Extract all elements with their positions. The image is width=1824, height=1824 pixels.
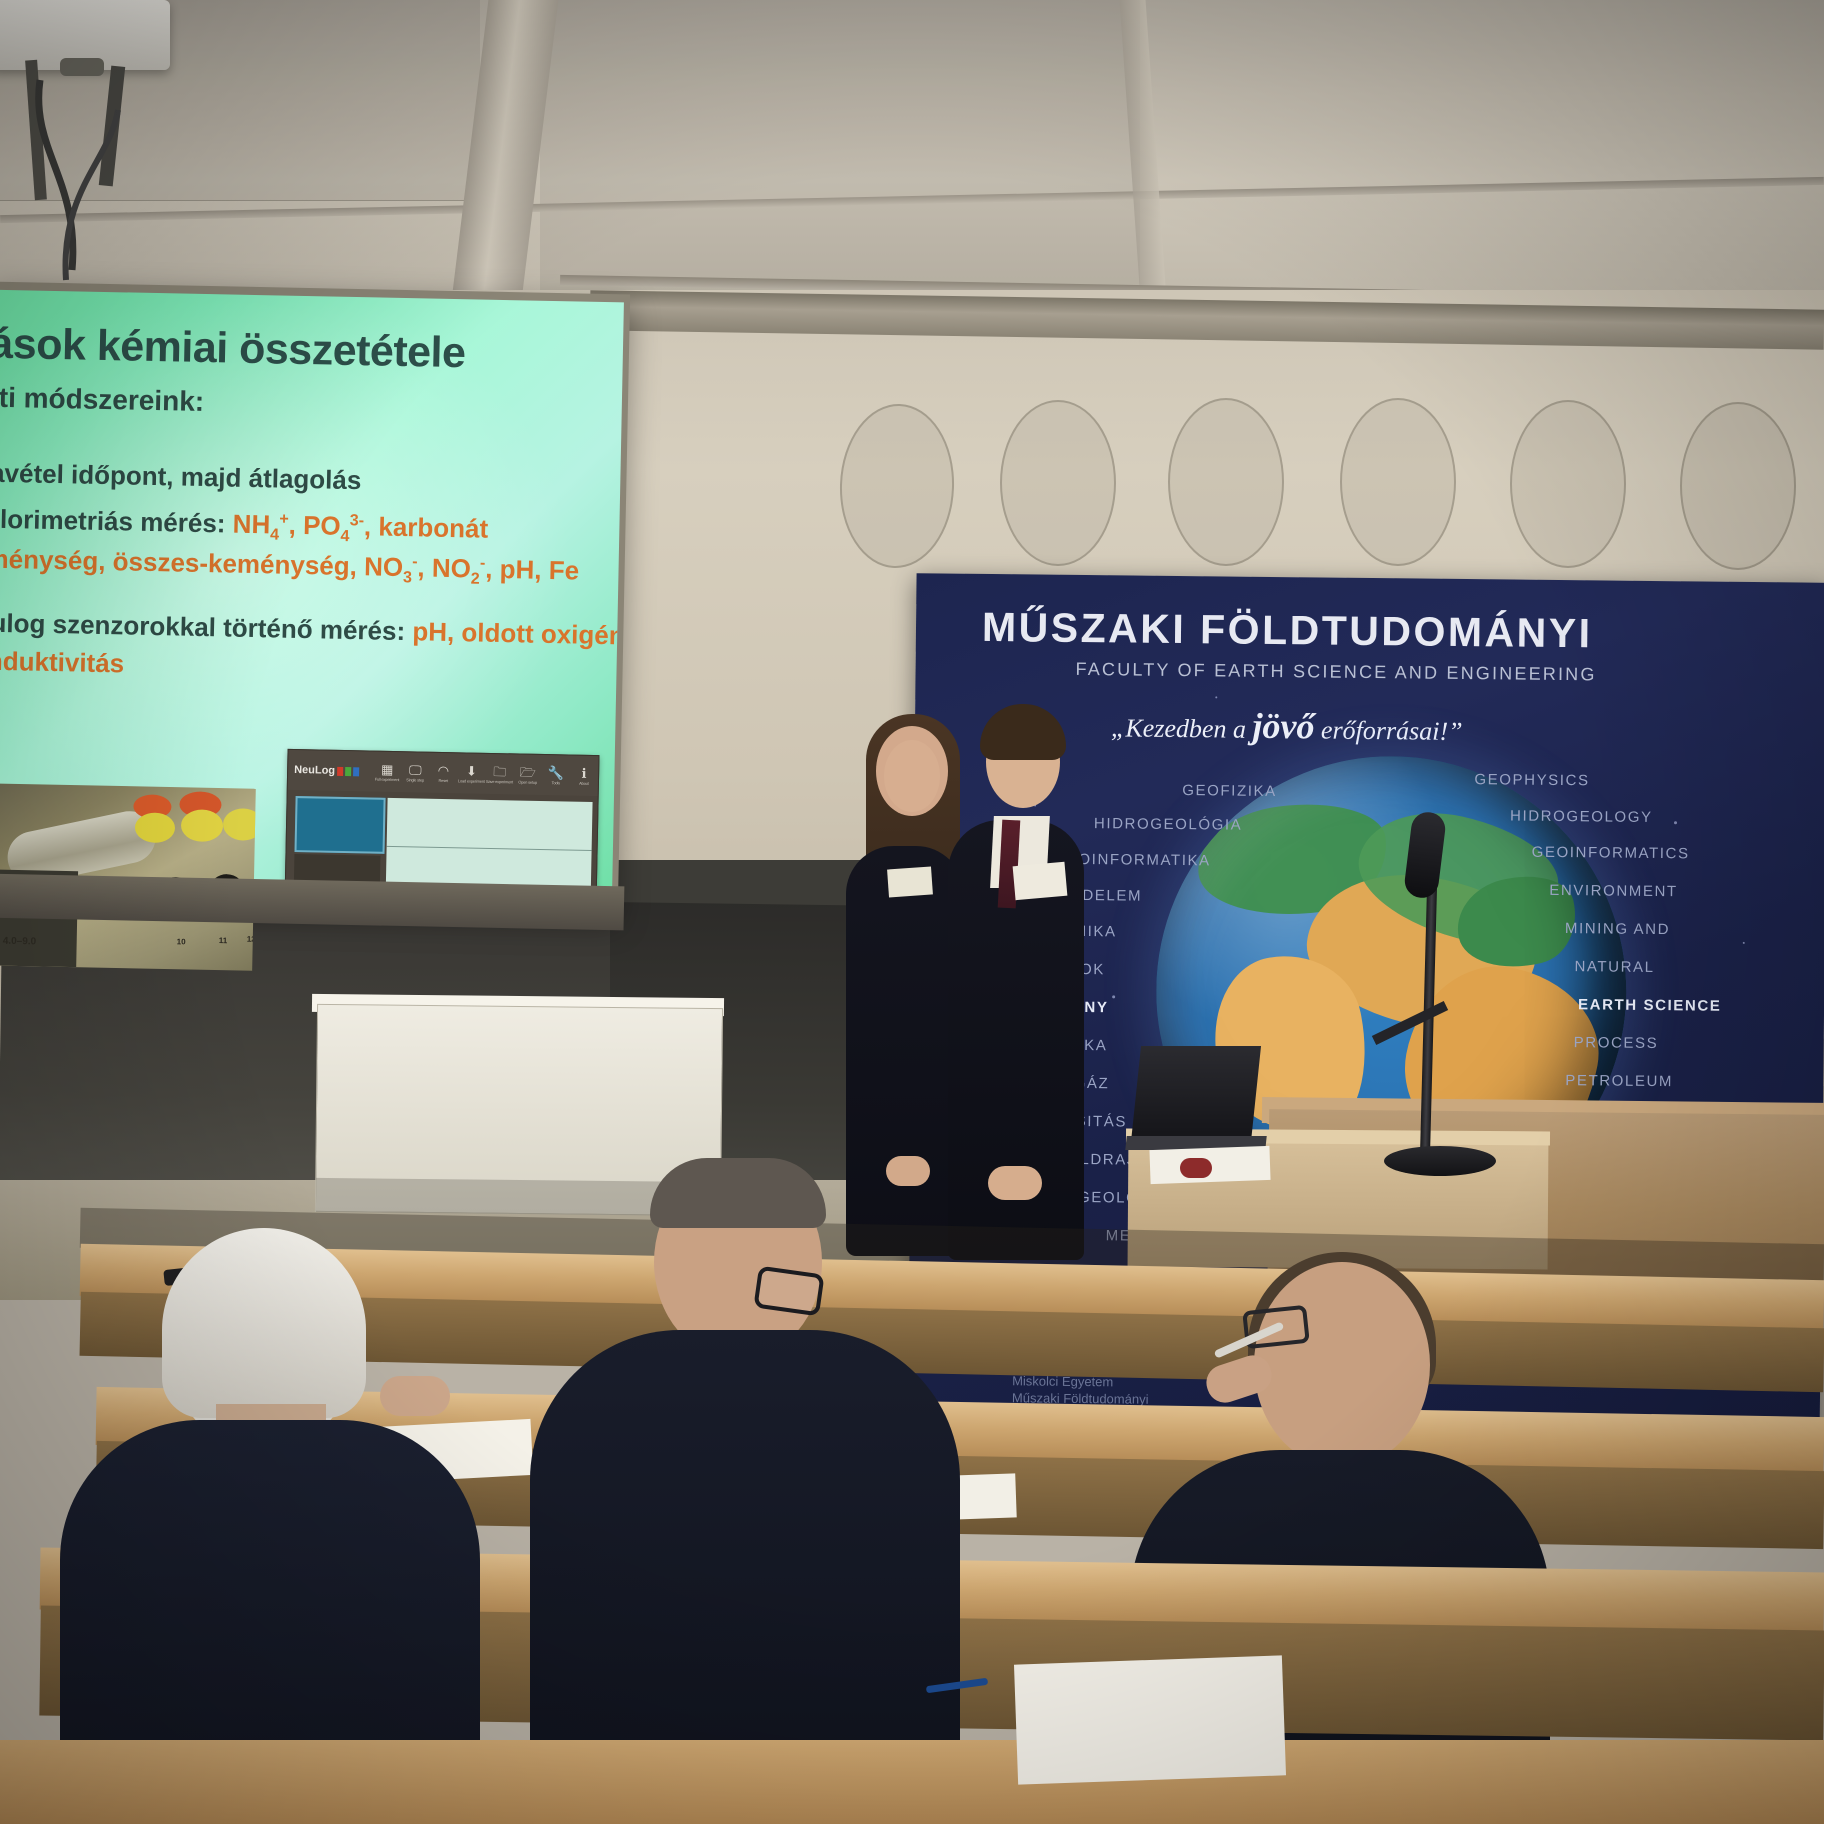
banner-word-en: ENVIRONMENT: [1549, 882, 1678, 900]
monitor-icon[interactable]: 🖵Single step: [401, 763, 430, 783]
presenter-female: [846, 846, 964, 1256]
formula-ammonium: NH4+: [232, 509, 289, 540]
banner-title: MŰSZAKI FÖLDTUDOMÁNYI: [982, 604, 1822, 660]
wall-decoration-circle: [1510, 400, 1626, 568]
banner-slogan: „Kezedben a jövő erőforrásai!”: [1111, 703, 1463, 749]
grid-icon[interactable]: ▦Full experiment: [373, 762, 402, 782]
slogan-pre: „Kezedben a: [1111, 713, 1253, 743]
ceiling: [0, 0, 1824, 300]
banner-word-hu: GEOFIZIKA: [1182, 782, 1277, 800]
audience-member-left-hand: [380, 1376, 450, 1416]
formula-phosphate: PO43-: [303, 510, 364, 541]
formula-sub: 3: [403, 568, 412, 586]
slide-bullet-3-line2: konduktivitás: [0, 645, 124, 679]
name-badge: [887, 866, 933, 897]
wall-decoration-circle: [1000, 400, 1116, 566]
color-dot: [223, 808, 256, 841]
toolbar-label: Reset: [429, 778, 457, 783]
formula-base: NO: [364, 551, 404, 582]
banner-word-en: PETROLEUM: [1565, 1072, 1673, 1090]
gauge-icon[interactable]: ◠Reset: [429, 763, 458, 783]
bullet-3-highlight: pH, oldott oxigén,: [412, 616, 624, 650]
neulog-logo: NeuLog: [294, 764, 359, 777]
projector-cable: [0, 40, 240, 300]
folder-icon[interactable]: 🗀Save experiment: [485, 764, 514, 784]
color-dot: [135, 812, 176, 843]
audience-member-right-head: [1254, 1262, 1430, 1468]
paper-sheet: [1014, 1655, 1286, 1784]
open-folder-icon[interactable]: 🗁Open setup: [513, 765, 542, 785]
toolbar-label: About: [570, 781, 598, 786]
wall-decoration-circle: [1340, 398, 1456, 566]
info-icon[interactable]: ℹAbout: [570, 766, 599, 786]
ph-range-label: pH 4.0–9.0: [0, 935, 36, 947]
banner-word-en: GEOPHYSICS: [1474, 771, 1589, 789]
microphone-base: [1384, 1146, 1496, 1176]
formula-sub: 4: [340, 527, 349, 545]
logo-square-red: [337, 766, 343, 775]
formula-nitrate: NO3-: [364, 551, 418, 582]
wireless-mouse[interactable]: [1180, 1158, 1212, 1178]
bench-row-4-top: [0, 1740, 1824, 1824]
scale-tick: 11: [219, 936, 228, 945]
formula-base: NH: [232, 509, 270, 540]
presenter-female-face: [884, 740, 940, 812]
slide-subtitle: álati módszereink:: [0, 381, 204, 418]
toolbar-label: Single step: [401, 778, 429, 783]
formula-separator: ,: [417, 552, 432, 582]
download-icon[interactable]: ⬇Load experiment: [457, 764, 486, 784]
toolbar-label: Full experiment: [373, 777, 401, 782]
toolbar-label: Load experiment: [457, 779, 485, 784]
formula-base: PO: [303, 510, 341, 541]
banner-word-en: NATURAL: [1574, 958, 1654, 976]
banner-word-en: PROCESS: [1574, 1034, 1659, 1052]
audience-member-left-hair: [162, 1228, 366, 1418]
toolbar-label: Open setup: [513, 780, 541, 785]
formula-sup: 3-: [350, 511, 365, 529]
wall-decoration-circle: [1680, 402, 1796, 570]
lecture-hall-photo: MŰSZAKI FÖLDTUDOMÁNYI FACULTY OF EARTH S…: [0, 0, 1824, 1824]
toolbar-label: Save experiment: [485, 779, 513, 784]
formula-sub: 4: [270, 526, 279, 544]
formula-nitrite: NO2-: [432, 553, 486, 584]
presenter-male-hands: [988, 1166, 1042, 1200]
wrench-icon[interactable]: 🔧Tools: [542, 765, 571, 785]
formula-separator: ,: [288, 510, 303, 540]
banner-word-hu: HIDROGEOLÓGIA: [1094, 815, 1242, 834]
color-dot: [181, 809, 224, 842]
slogan-emphasis: jövő: [1252, 706, 1314, 747]
bullet-2-line2-tail: , pH, Fe: [485, 554, 579, 586]
logo-square-blue: [353, 767, 359, 776]
scale-tick: 10: [177, 937, 186, 946]
formula-sub: 2: [471, 570, 480, 588]
logo-square-green: [345, 767, 351, 776]
wall-decoration-circle: [1168, 398, 1284, 566]
bullet-2-lead: Kolorimetriás mérés:: [0, 503, 233, 538]
banner-word-en: EARTH SCIENCE: [1578, 996, 1721, 1014]
banner-word-en: GEOINFORMATICS: [1532, 844, 1690, 863]
audience-member-center-hair: [650, 1158, 826, 1228]
formula-base: NO: [432, 553, 472, 584]
toolbar-label: Tools: [542, 780, 570, 785]
presenter-laptop[interactable]: [1131, 1046, 1261, 1142]
slogan-post: erőforrásai!”: [1314, 715, 1462, 746]
presenter-female-hands: [886, 1156, 930, 1186]
banner-word-en: MINING AND: [1565, 920, 1670, 938]
neulog-logo-text: NeuLog: [294, 764, 335, 777]
name-badge: [1013, 862, 1068, 900]
bullet-2-tail: , karbonát: [364, 511, 489, 543]
sensor-tile[interactable]: [295, 796, 386, 854]
eyeglasses: [753, 1266, 824, 1317]
graph-trace: [387, 846, 592, 851]
neulog-toolbar: NeuLog ▦Full experiment 🖵Single step ◠Re…: [288, 750, 599, 796]
banner-word-en: HIDROGEOLOGY: [1510, 807, 1653, 825]
